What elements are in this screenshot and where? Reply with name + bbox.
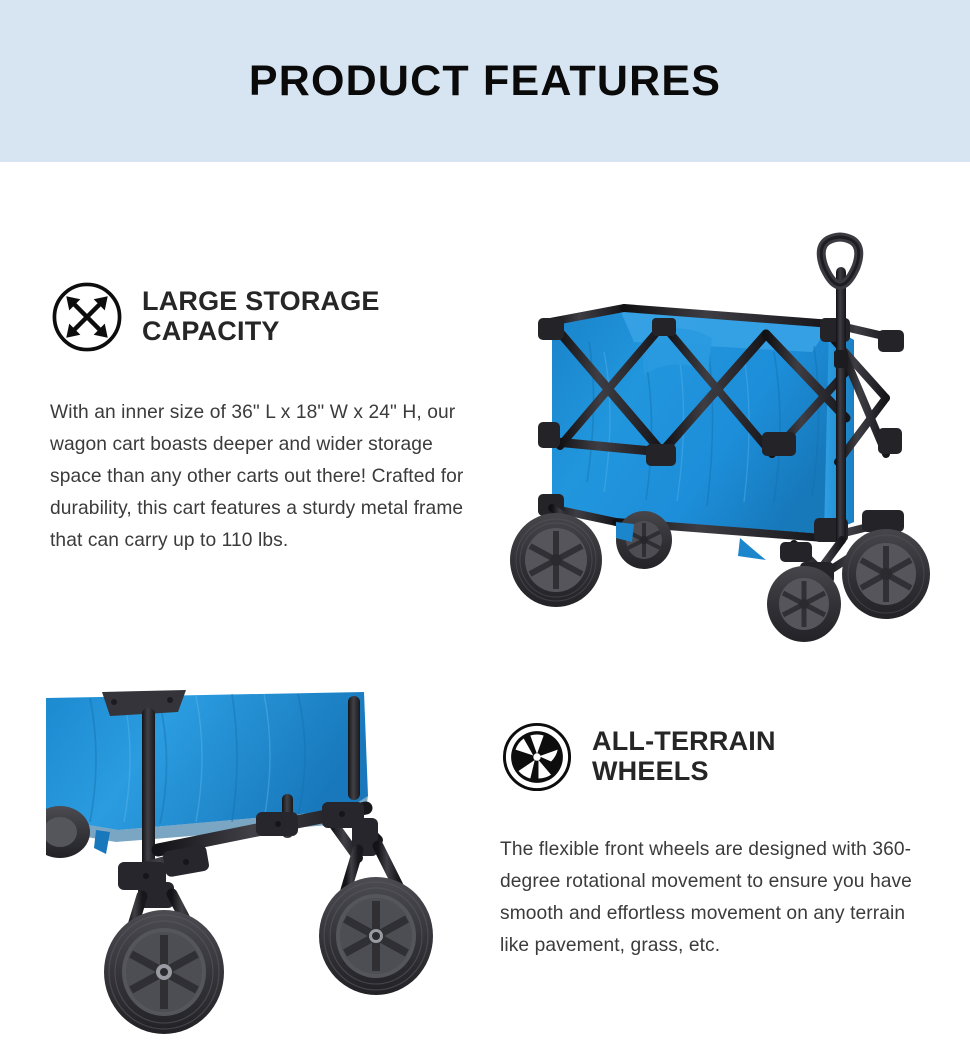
product-photo-wheels-closeup bbox=[46, 690, 466, 1042]
feature-description: With an inner size of 36" L x 18" W x 24… bbox=[50, 397, 470, 557]
feature-title: ALL-TERRAIN WHEELS bbox=[592, 718, 776, 786]
page-header-banner: PRODUCT FEATURES bbox=[0, 0, 970, 162]
wheel-icon bbox=[500, 720, 574, 794]
product-features-page: PRODUCT FEATURES LARGE STORAGE CAPACITY bbox=[0, 0, 970, 1063]
feature-heading-row: ALL-TERRAIN WHEELS bbox=[500, 718, 930, 794]
feature-description: The flexible front wheels are designed w… bbox=[500, 834, 930, 962]
feature-block-all-terrain-wheels: ALL-TERRAIN WHEELS The flexible front wh… bbox=[500, 718, 930, 962]
feature-title: LARGE STORAGE CAPACITY bbox=[142, 278, 380, 346]
expand-arrows-icon bbox=[50, 280, 124, 354]
product-photo-full-wagon bbox=[494, 222, 934, 642]
page-title: PRODUCT FEATURES bbox=[249, 57, 721, 106]
feature-heading-row: LARGE STORAGE CAPACITY bbox=[50, 278, 470, 354]
feature-block-large-storage-capacity: LARGE STORAGE CAPACITY With an inner siz… bbox=[50, 278, 470, 557]
